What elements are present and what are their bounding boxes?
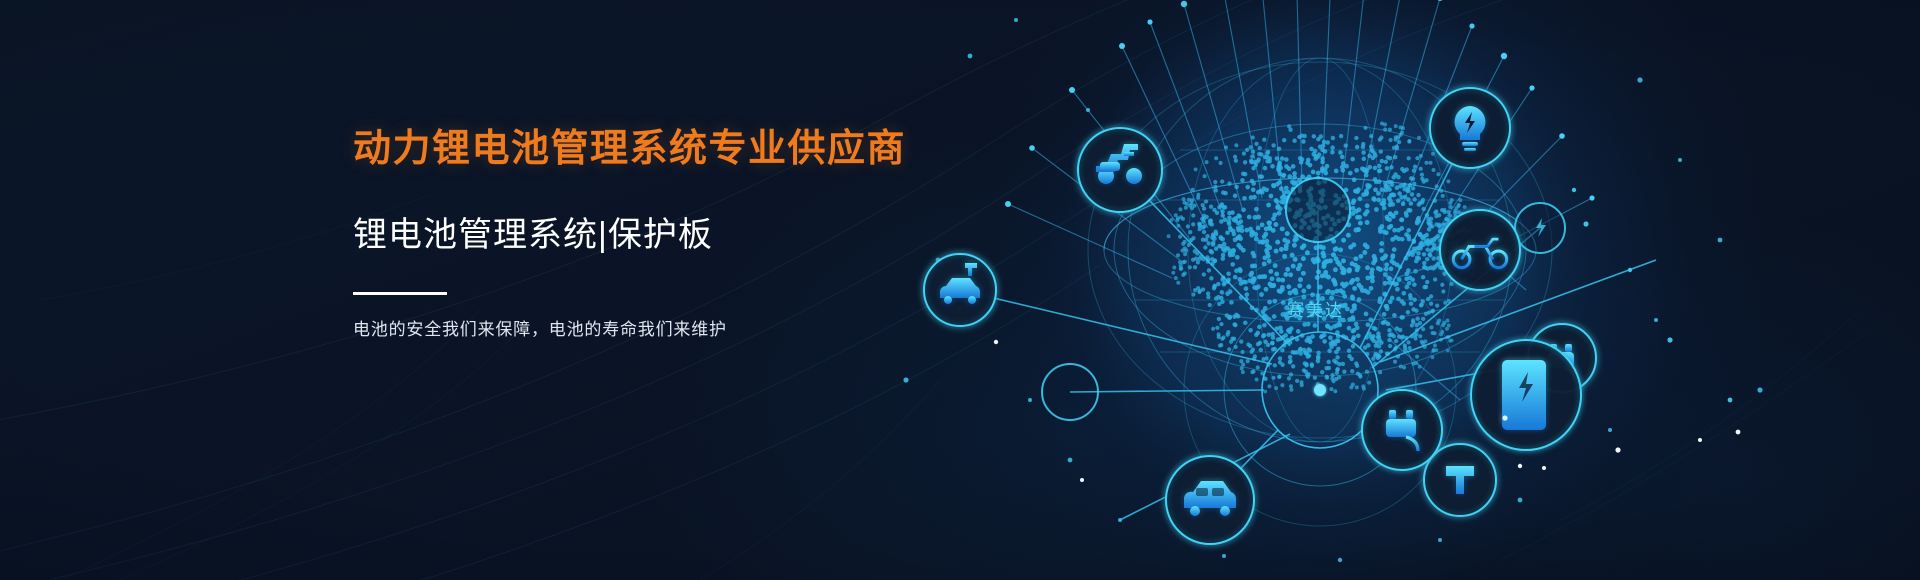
hero-banner: 动力锂电池管理系统专业供应商 锂电池管理系统|保护板 电池的安全我们来保障，电池… <box>0 0 1920 580</box>
background-vignette <box>0 0 1920 580</box>
